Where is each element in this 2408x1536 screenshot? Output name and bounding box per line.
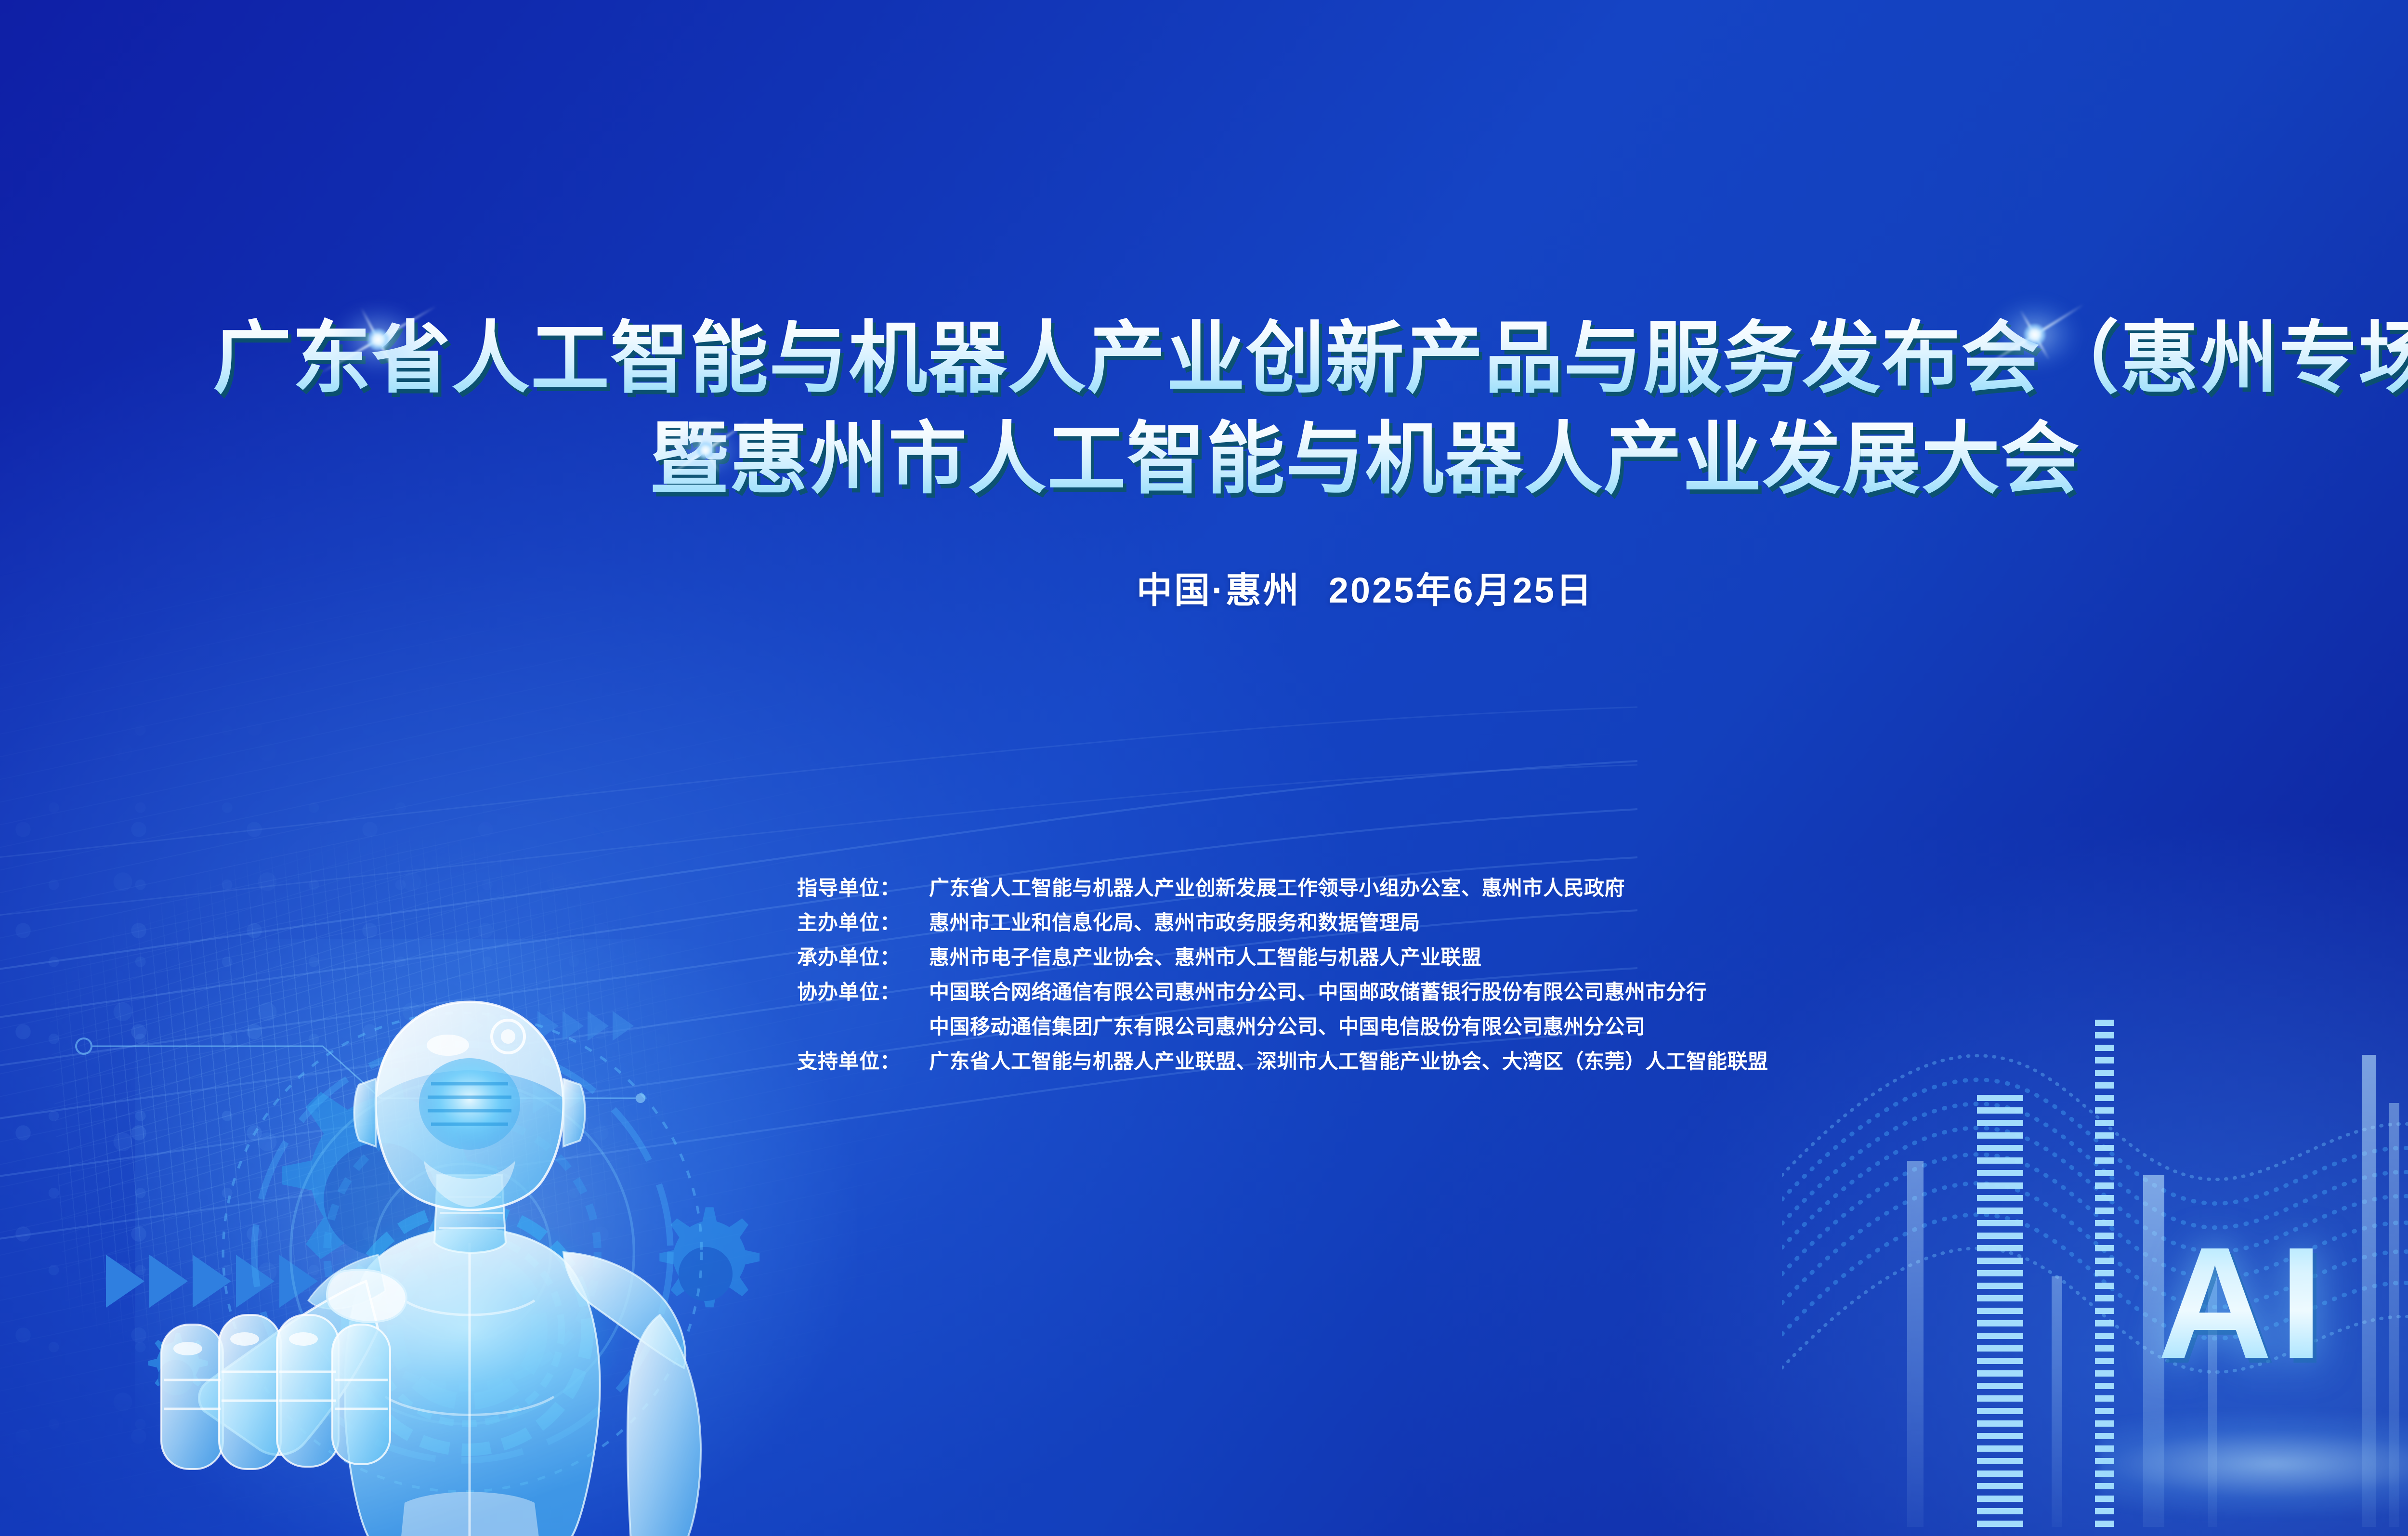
title-block: 广东省人工智能与机器人产业创新产品与服务发布会（惠州专场） 暨惠州市人工智能与机…	[0, 308, 2408, 509]
event-date: 2025年6月25日	[1329, 570, 1594, 610]
ai-underglow-decoration	[2100, 1411, 2408, 1517]
title-line-1: 广东省人工智能与机器人产业创新产品与服务发布会（惠州专场）	[0, 308, 2408, 409]
organizer-row: 支持单位： 广东省人工智能与机器人产业联盟、深圳市人工智能产业协会、大湾区（东莞…	[797, 1045, 1768, 1080]
organizer-value: 中国联合网络通信有限公司惠州市分公司、中国邮政储蓄银行股份有限公司惠州市分行	[929, 976, 1707, 1005]
organizer-value: 中国移动通信集团广东有限公司惠州分公司、中国电信股份有限公司惠州分公司	[929, 1011, 1646, 1040]
organizer-row: 主办单位： 惠州市工业和信息化局、惠州市政务服务和数据管理局	[797, 906, 1768, 941]
organizer-label: 承办单位：	[797, 941, 923, 971]
organizer-value: 广东省人工智能与机器人产业创新发展工作领导小组办公室、惠州市人民政府	[929, 872, 1625, 901]
organizer-row: 承办单位： 惠州市电子信息产业协会、惠州市人工智能与机器人产业联盟	[797, 941, 1768, 976]
organizer-label: 主办单位：	[797, 906, 923, 936]
organizer-label: 指导单位：	[797, 872, 923, 901]
event-location-date: 中国·惠州2025年6月25日	[0, 562, 2408, 613]
humanoid-robot-illustration	[116, 934, 766, 1536]
organizer-label: 协办单位：	[797, 976, 923, 1005]
organizer-label: 支持单位：	[797, 1045, 923, 1075]
organizer-value: 惠州市工业和信息化局、惠州市政务服务和数据管理局	[929, 906, 1420, 936]
organizer-row: 协办单位： 中国联合网络通信有限公司惠州市分公司、中国邮政储蓄银行股份有限公司惠…	[797, 976, 1768, 1011]
organizer-value: 惠州市电子信息产业协会、惠州市人工智能与机器人产业联盟	[929, 941, 1482, 971]
conference-banner: AI 广东省人工智能与机器人产业创新产品与服务发布会（惠州专场） 暨惠州市人工智…	[0, 0, 2408, 1536]
organizer-row-continuation: 中国移动通信集团广东有限公司惠州分公司、中国电信股份有限公司惠州分公司	[797, 1011, 1768, 1045]
event-location: 中国·惠州	[1137, 570, 1301, 610]
organizer-value: 广东省人工智能与机器人产业联盟、深圳市人工智能产业协会、大湾区（东莞）人工智能联…	[929, 1045, 1768, 1075]
title-line-2: 暨惠州市人工智能与机器人产业发展大会	[0, 409, 2408, 510]
organizers-list: 指导单位： 广东省人工智能与机器人产业创新发展工作领导小组办公室、惠州市人民政府…	[797, 872, 1768, 1080]
ai-wordmark: AI	[2158, 1223, 2330, 1382]
organizer-row: 指导单位： 广东省人工智能与机器人产业创新发展工作领导小组办公室、惠州市人民政府	[797, 872, 1768, 906]
